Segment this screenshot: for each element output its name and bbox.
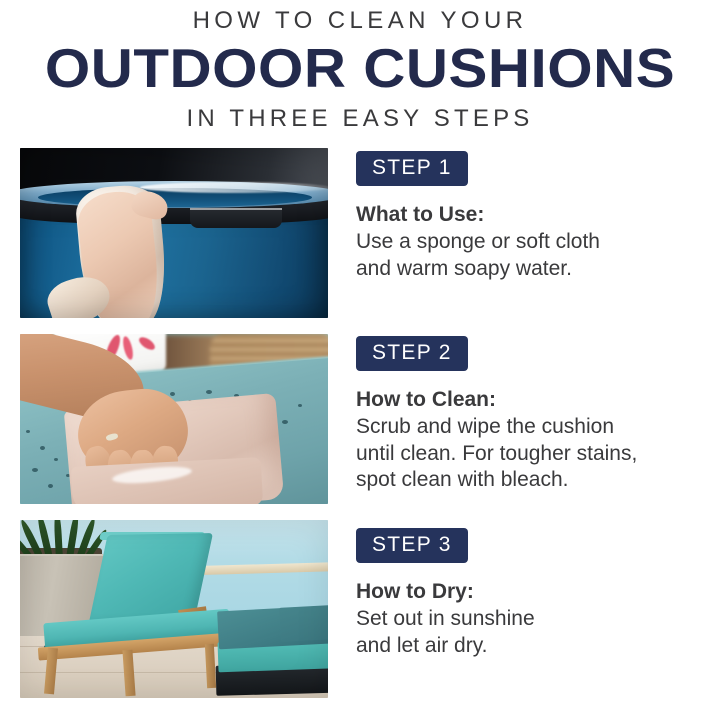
step-2-body-line-2: until clean. For tougher stains,	[356, 441, 706, 468]
step-2-heading: How to Clean:	[356, 387, 706, 413]
water-droplet	[170, 392, 175, 396]
water-droplet	[48, 484, 53, 488]
step-2-photo-wiping	[20, 334, 328, 504]
step-3-body-line-2: and let air dry.	[356, 633, 706, 660]
step-2-text-column: STEP 2 How to Clean: Scrub and wipe the …	[356, 334, 706, 494]
step-3-badge: STEP 3	[356, 528, 468, 563]
step-1-body: Use a sponge or soft cloth and warm soap…	[356, 229, 706, 282]
water-droplet	[298, 404, 302, 407]
step-2-body-line-1: Scrub and wipe the cushion	[356, 414, 706, 441]
cushion-stack-top-second	[279, 604, 328, 642]
water-droplet	[282, 420, 288, 424]
water-droplet	[32, 468, 38, 472]
water-droplet	[206, 390, 212, 394]
step-1-heading: What to Use:	[356, 202, 706, 228]
step-2-body-line-3: spot clean with bleach.	[356, 467, 706, 494]
photo1-vignette	[20, 148, 328, 318]
water-droplet	[54, 458, 58, 461]
water-droplet	[26, 430, 30, 433]
step-1-text-column: STEP 1 What to Use: Use a sponge or soft…	[356, 148, 706, 282]
step-3-body-line-1: Set out in sunshine	[356, 606, 706, 633]
page-title: OUTDOOR CUSHIONS	[0, 38, 720, 98]
infographic-header: HOW TO CLEAN YOUR OUTDOOR CUSHIONS IN TH…	[0, 0, 720, 134]
step-1-photo-bucket	[20, 148, 328, 318]
step-3-heading: How to Dry:	[356, 579, 706, 605]
step-3-text-column: STEP 3 How to Dry: Set out in sunshine a…	[356, 520, 706, 659]
step-1-body-line-1: Use a sponge or soft cloth	[356, 229, 706, 256]
water-droplet	[40, 446, 45, 450]
step-3-photo-lounge	[20, 520, 328, 698]
step-3-body: Set out in sunshine and let air dry.	[356, 606, 706, 659]
header-subtitle: IN THREE EASY STEPS	[0, 104, 720, 134]
step-1-badge: STEP 1	[356, 151, 468, 186]
step-2-badge: STEP 2	[356, 336, 468, 371]
step-1-body-line-2: and warm soapy water.	[356, 256, 706, 283]
step-2-body: Scrub and wipe the cushion until clean. …	[356, 414, 706, 494]
header-eyebrow: HOW TO CLEAN YOUR	[0, 6, 720, 36]
